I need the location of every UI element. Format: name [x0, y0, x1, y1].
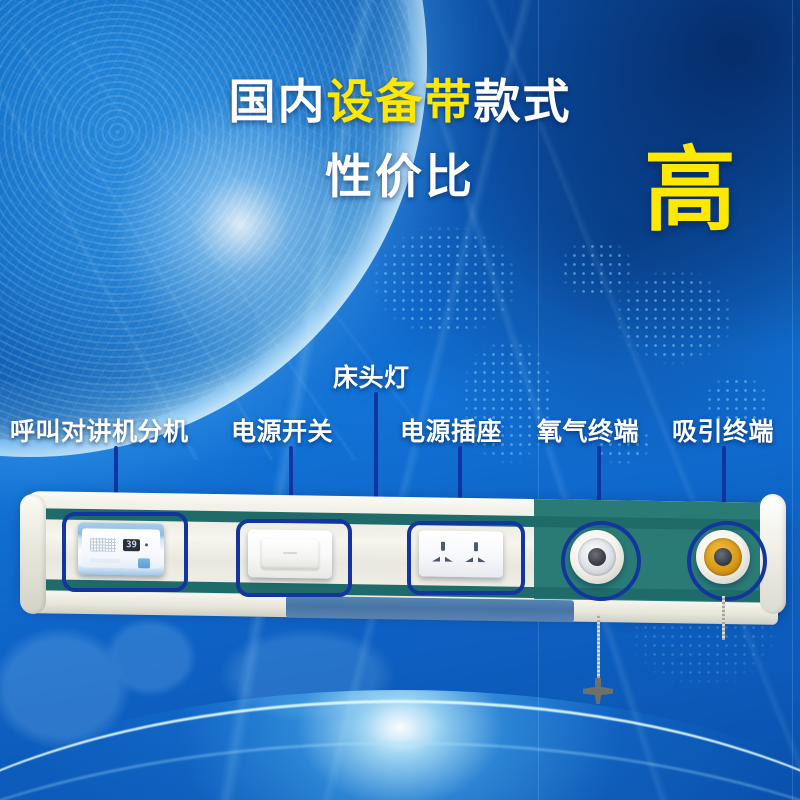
callout-label-socket: 电源插座	[400, 412, 502, 448]
promo-image: 国内设备带款式 性价比 高 呼叫对讲机分机 电源开关 床头灯 电源插座 氧气终端…	[0, 0, 800, 800]
headline-text-prefix: 国内	[229, 75, 327, 128]
bottom-glow-arc	[0, 690, 800, 800]
highlight-circle-oxygen	[561, 521, 641, 601]
highlight-circle-suction	[687, 521, 767, 601]
callout-label-oxygen: 氧气终端	[537, 412, 639, 448]
headline-text-suffix: 款式	[474, 75, 572, 128]
highlight-box-intercom	[62, 512, 188, 592]
highlight-box-switch	[236, 519, 352, 597]
highlight-box-socket	[407, 521, 525, 595]
panel-end-cap-left	[20, 494, 46, 614]
callout-label-bed-lamp: 床头灯	[333, 358, 410, 394]
callout-label-power-switch: 电源开关	[231, 412, 333, 448]
bottom-arc-line	[0, 700, 800, 800]
panel-rail-blue-section	[286, 596, 574, 623]
pull-cord-chain[interactable]	[597, 614, 600, 686]
pull-cord-handle-icon[interactable]	[583, 678, 613, 704]
bottom-arc-line-secondary	[0, 742, 800, 800]
headline-emphasis-char: 高	[644, 145, 736, 237]
headline-text-accent: 设备带	[327, 75, 474, 128]
headline-line-1: 国内设备带款式	[0, 78, 800, 125]
callout-label-intercom: 呼叫对讲机分机	[10, 412, 189, 448]
callout-label-suction: 吸引终端	[672, 412, 774, 448]
pull-cord-chain-secondary[interactable]	[722, 596, 725, 640]
world-map-ghost	[0, 600, 520, 800]
